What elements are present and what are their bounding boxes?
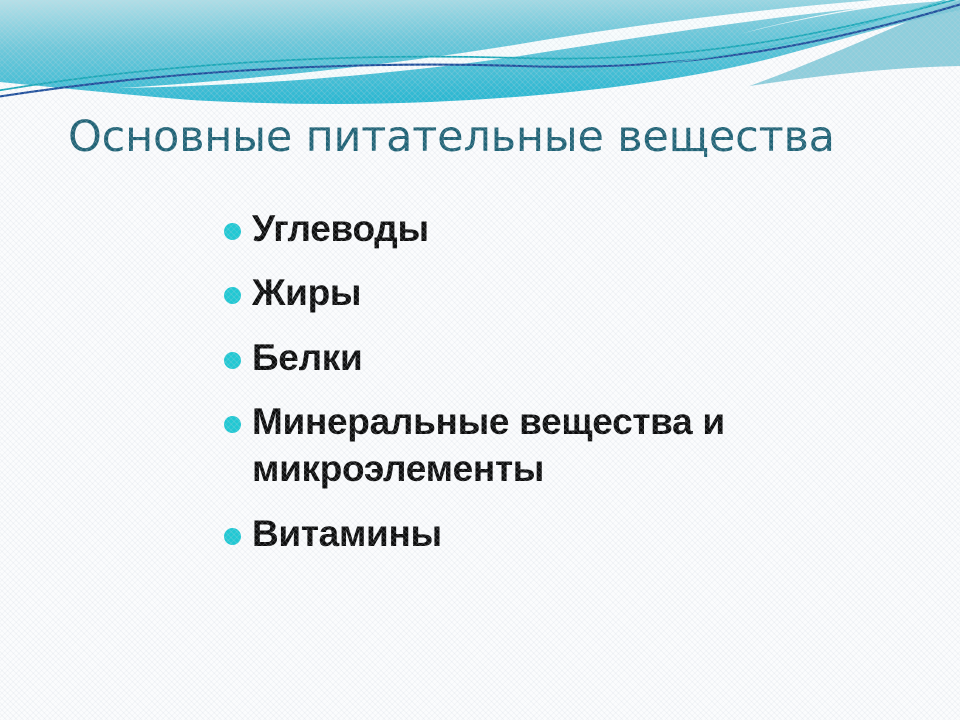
list-item-label: Жиры <box>252 269 912 316</box>
list-item-label: Минеральные вещества и микроэлементы <box>252 398 912 493</box>
list-item-label: Витамины <box>252 510 912 557</box>
bullet-dot-icon <box>224 223 241 240</box>
list-item: Углеводы <box>222 205 912 252</box>
slide-title: Основные питательные вещества <box>68 114 918 161</box>
wave-graphic <box>0 0 960 130</box>
bullet-dot-icon <box>224 352 241 369</box>
list-item: Минеральные вещества и микроэлементы <box>222 398 912 493</box>
list-item-label: Белки <box>252 334 912 381</box>
list-item: Жиры <box>222 269 912 316</box>
header-wave-decoration <box>0 0 960 130</box>
list-item: Белки <box>222 334 912 381</box>
bullet-dot-icon <box>224 416 241 433</box>
nutrients-bullet-list: Углеводы Жиры Белки Минеральные вещества… <box>222 205 912 557</box>
list-item: Витамины <box>222 510 912 557</box>
list-item-label: Углеводы <box>252 205 912 252</box>
bullet-dot-icon <box>224 287 241 304</box>
bullet-dot-icon <box>224 528 241 545</box>
presentation-slide: Основные питательные вещества Углеводы Ж… <box>0 0 960 720</box>
